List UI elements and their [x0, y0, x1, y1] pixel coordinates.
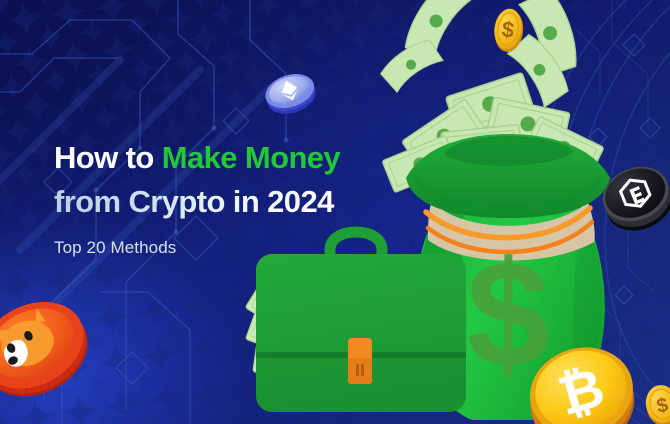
coin-dollar: $	[487, 5, 531, 53]
headline-line-1: How to Make Money	[54, 136, 340, 180]
coin-ethereum	[259, 64, 321, 120]
coin-dark-token	[596, 152, 670, 238]
crypto-banner: How to Make Money from Crypto in 2024 To…	[0, 0, 670, 424]
headline-line-1-prefix: How to	[54, 140, 162, 175]
headline-line-2: from Crypto in 2024	[54, 180, 340, 224]
coin-bitcoin: ₿	[518, 334, 646, 424]
headline-line-1-accent: Make Money	[162, 140, 340, 175]
headline-subtitle: Top 20 Methods	[54, 238, 340, 258]
headline-block: How to Make Money from Crypto in 2024 To…	[54, 136, 340, 258]
coin-shiba-inu	[0, 288, 98, 406]
coin-gold-small: $	[642, 382, 670, 424]
